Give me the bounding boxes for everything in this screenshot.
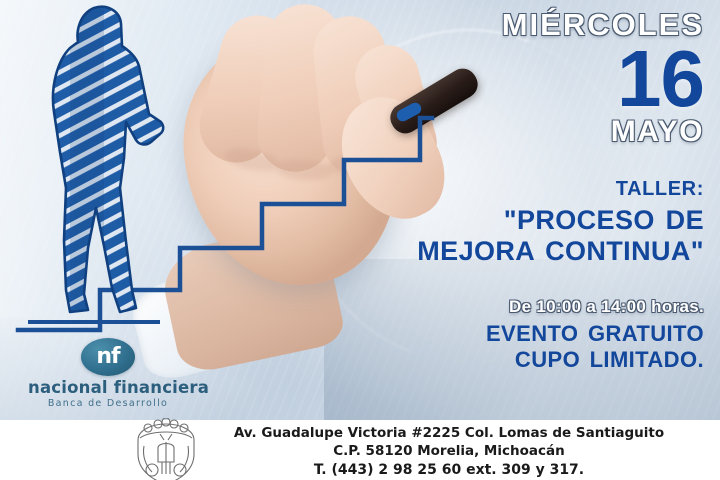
promotional-poster: nf nacional financiera Banca de Desarrol… (0, 0, 720, 480)
logo-name: nacional financiera (28, 379, 188, 396)
footer-contact-info: Av. Guadalupe Victoria #2225 Col. Lomas … (196, 425, 702, 479)
footer-address-line-1: Av. Guadalupe Victoria #2225 Col. Lomas … (196, 425, 702, 443)
footer-address-line-2: C.P. 58120 Morelia, Michoacán (196, 443, 702, 461)
footer-band: Av. Guadalupe Victoria #2225 Col. Lomas … (0, 420, 720, 480)
event-admission-note: EVENTO GRATUITO CUPO LIMITADO. (274, 321, 704, 374)
event-schedule: De 10:00 a 14:00 horas. (274, 298, 704, 315)
event-title-line-1: "PROCESO DE (274, 205, 704, 237)
footer-phone: T. (443) 2 98 25 60 ext. 309 y 317. (196, 461, 702, 479)
event-title: "PROCESO DE MEJORA CONTINUA" (274, 205, 704, 268)
event-type-label: TALLER: (274, 179, 704, 199)
event-free-line-2: CUPO LIMITADO. (274, 347, 704, 373)
logo-tagline: Banca de Desarrollo (28, 398, 188, 409)
nf-monogram-icon: nf (81, 338, 135, 376)
nf-monogram-text: nf (81, 338, 135, 376)
event-month: MAYO (274, 117, 704, 147)
nacional-financiera-logo: nf nacional financiera Banca de Desarrol… (28, 338, 188, 414)
event-free-line-1: EVENTO GRATUITO (274, 321, 704, 347)
event-title-line-2: MEJORA CONTINUA" (274, 236, 704, 268)
event-day-number: 16 (274, 42, 704, 116)
event-info-column: MIÉRCOLES 16 MAYO TALLER: "PROCESO DE ME… (274, 0, 704, 374)
striped-walking-man-figure (8, 2, 198, 332)
